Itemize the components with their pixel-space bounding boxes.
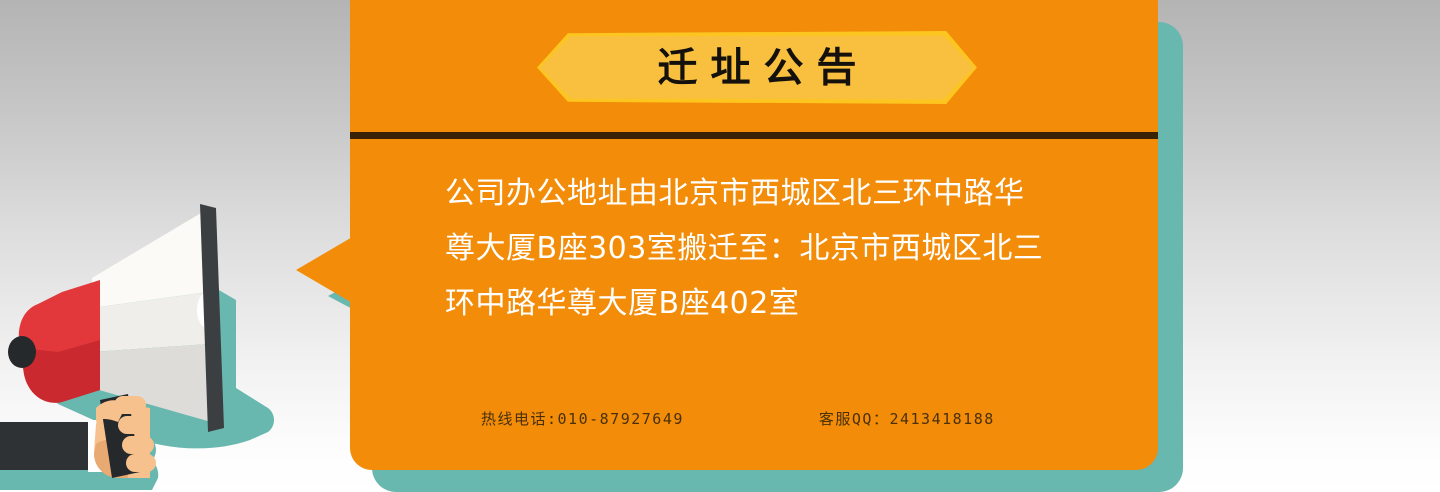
hotline-text: 热线电话:010-87927649: [481, 408, 684, 429]
megaphone-nub: [8, 336, 36, 368]
megaphone-cone-top: [92, 210, 208, 308]
finger-3: [122, 436, 154, 454]
bubble-tail: [296, 236, 354, 304]
title-banner: 迁址公告: [537, 31, 977, 104]
finger-4: [126, 454, 156, 472]
body-line-3: 环中路华尊大厦B座402室: [445, 276, 1095, 331]
announcement-body: 公司办公地址由北京市西城区北三环中路华 尊大厦B座303室搬迁至：北京市西城区北…: [445, 166, 1095, 331]
body-line-1: 公司办公地址由北京市西城区北三环中路华: [445, 166, 1095, 221]
megaphone-illustration: [0, 182, 320, 492]
finger-2: [118, 416, 150, 434]
contact-footer: 热线电话:010-87927649 客服QQ：2413418188: [445, 408, 1085, 429]
title-divider: [350, 132, 1158, 139]
page-title: 迁址公告: [537, 31, 977, 104]
sleeve: [0, 422, 96, 470]
qq-text: 客服QQ：2413418188: [819, 408, 995, 429]
poster-canvas: 迁址公告 公司办公地址由北京市西城区北三环中路华 尊大厦B座303室搬迁至：北京…: [0, 0, 1440, 492]
body-line-2: 尊大厦B座303室搬迁至：北京市西城区北三: [445, 221, 1095, 276]
